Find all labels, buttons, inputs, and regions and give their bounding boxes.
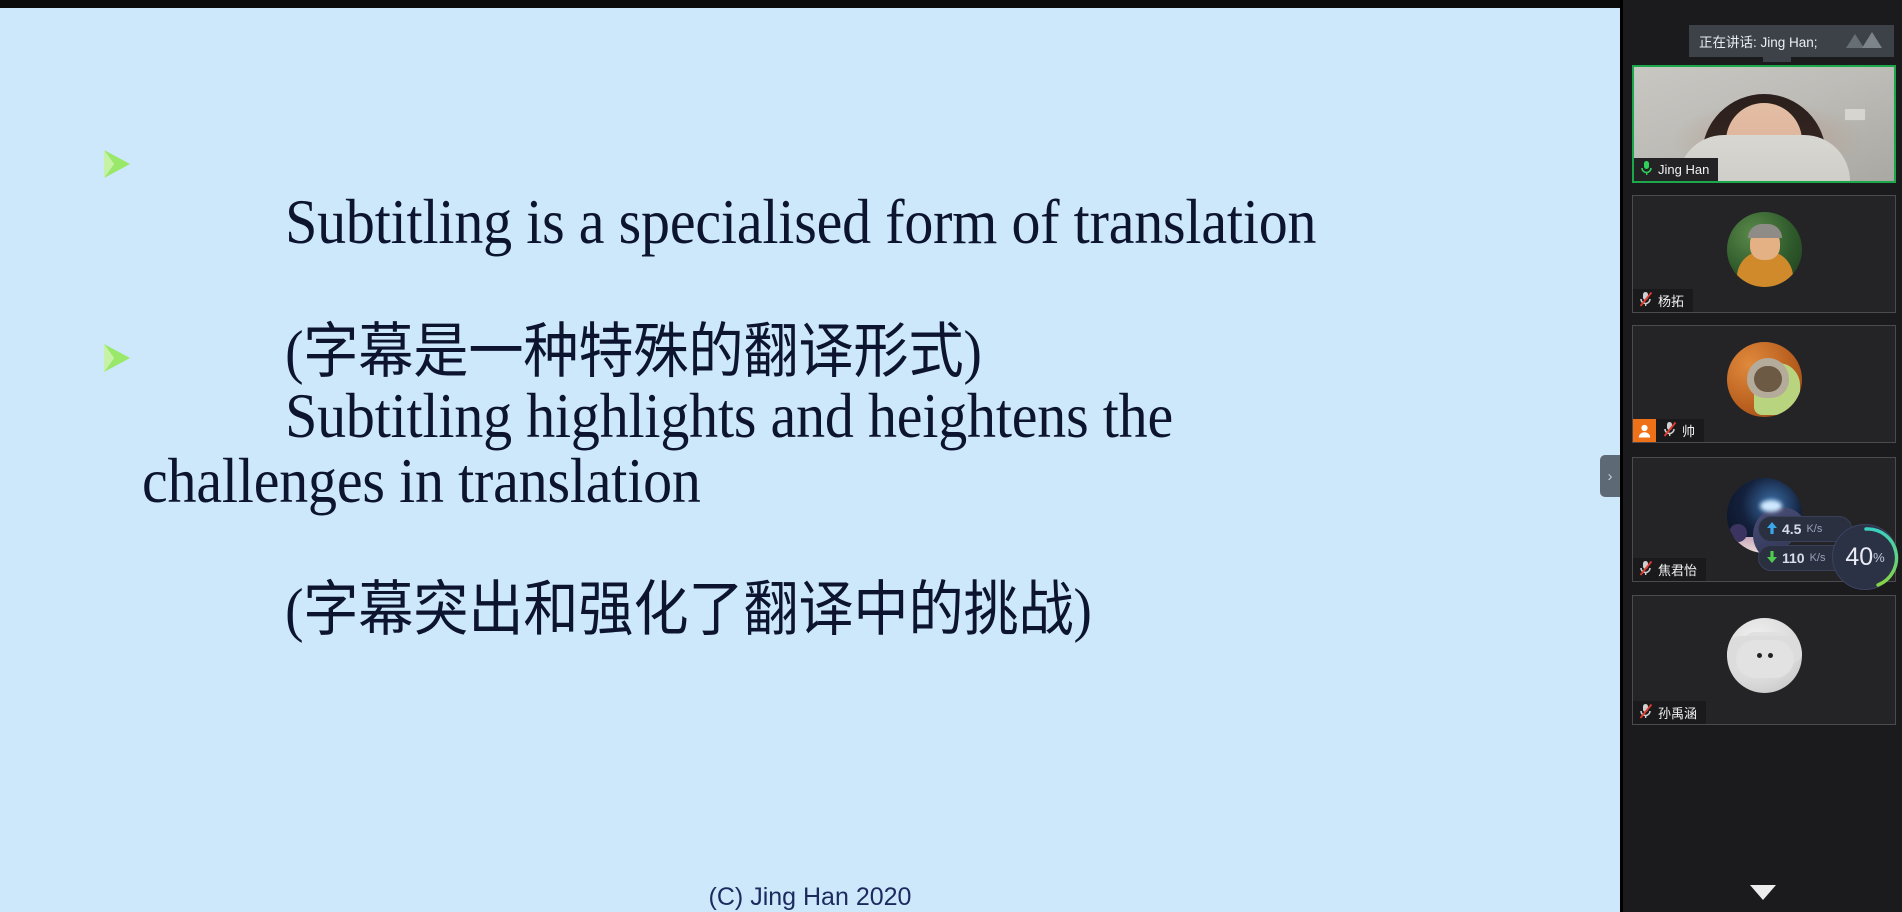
arrow-up-icon [1767, 521, 1777, 537]
download-speed-value: 110 [1782, 550, 1805, 566]
active-speaker-label: 正在讲话: Jing Han; [1699, 31, 1844, 51]
participant-name: Jing Han [1658, 162, 1709, 177]
download-speed-unit: K/s [1810, 552, 1826, 564]
bullet-1-en: Subtitling is a specialised form of tran… [285, 187, 1316, 257]
avatar [1727, 618, 1802, 693]
slide-bullet-2: Subtitling highlights and heightens the … [100, 320, 1263, 706]
participant-name: 孙禹涵 [1658, 703, 1697, 722]
collapse-filmstrip-handle[interactable]: › [1600, 455, 1620, 497]
participant-tile-jing-han[interactable]: Jing Han [1632, 65, 1896, 183]
tile-name-badge: Jing Han [1634, 158, 1718, 181]
participant-tile-yangtuo[interactable]: 杨拓 [1632, 195, 1896, 313]
wall-switch [1844, 108, 1866, 121]
arrow-down-icon [1767, 550, 1777, 566]
bullet-2-en: Subtitling highlights and heightens the … [142, 381, 1173, 515]
arrow-bullet-icon [100, 338, 138, 378]
participant-tile-sunyuhan[interactable]: 孙禹涵 [1632, 595, 1896, 725]
shared-screen-slide: Subtitling is a specialised form of tran… [0, 8, 1620, 912]
microphone-muted-icon [1639, 291, 1653, 310]
avatar [1727, 342, 1802, 417]
active-speaker-banner: 正在讲话: Jing Han; [1689, 25, 1894, 57]
network-usage-gauge[interactable]: 40% [1832, 524, 1898, 590]
mountains-icon [1844, 30, 1884, 53]
bullet-2-cn: (字幕突出和强化了翻译中的挑战) [285, 577, 1092, 643]
slide-copyright-footer: (C) Jing Han 2020 [0, 883, 1620, 912]
tile-name-badge: 杨拓 [1633, 289, 1693, 312]
chevron-right-icon: › [1608, 468, 1613, 485]
participant-name: 杨拓 [1658, 291, 1684, 310]
participant-tile-shuai[interactable]: 帅 [1632, 325, 1896, 443]
tile-name-badge: 孙禹涵 [1633, 701, 1706, 724]
avatar [1727, 212, 1802, 287]
participant-name: 焦君怡 [1658, 560, 1697, 579]
tile-name-badge: 帅 [1633, 419, 1704, 442]
microphone-icon [1640, 160, 1653, 179]
upload-speed-unit: K/s [1806, 523, 1822, 535]
host-person-icon [1633, 419, 1656, 442]
microphone-muted-icon [1639, 703, 1653, 722]
scroll-down-chevron-icon[interactable] [1750, 885, 1776, 900]
zoom-meeting-window: Subtitling is a specialised form of tran… [0, 0, 1902, 912]
tile-name-badge: 焦君怡 [1633, 558, 1706, 581]
participants-filmstrip: 正在讲话: Jing Han; [1620, 0, 1902, 912]
arrow-bullet-icon [100, 144, 138, 184]
banner-notch [1763, 57, 1791, 62]
microphone-muted-icon [1663, 421, 1677, 440]
participant-name: 帅 [1682, 421, 1695, 440]
microphone-muted-icon [1639, 560, 1653, 579]
network-speed-widget[interactable]: 4.5 K/s 110 K/s [1758, 516, 1852, 571]
upload-speed-value: 4.5 [1782, 521, 1801, 537]
